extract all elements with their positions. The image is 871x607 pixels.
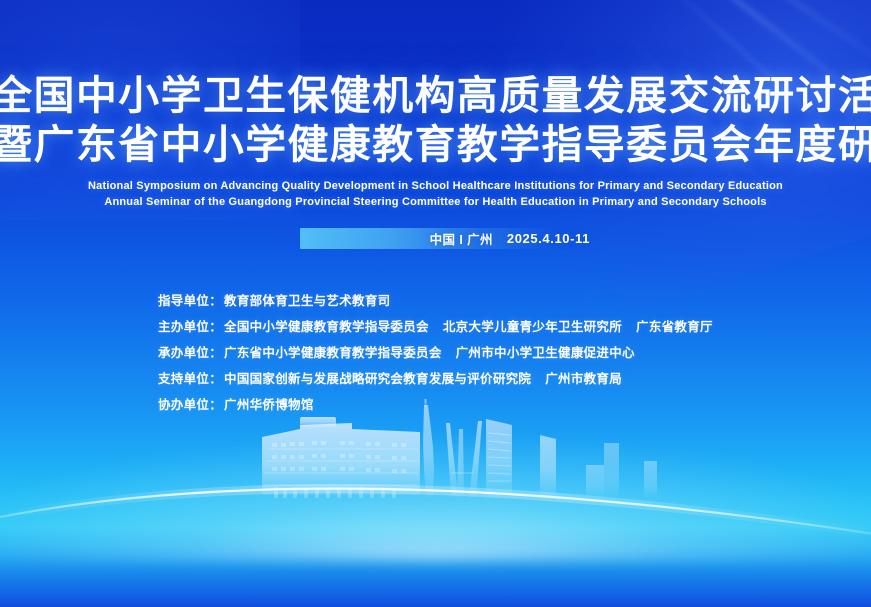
organization-label: 指导单位： xyxy=(158,294,222,308)
organization-row: 支持单位：中国国家创新与发展战略研究会教育发展与评价研究院广州市教育局 xyxy=(158,366,713,392)
organization-item: 中国国家创新与发展战略研究会教育发展与评价研究院 xyxy=(224,372,531,386)
organization-item: 广州华侨博物馆 xyxy=(224,398,314,412)
organization-item: 广州市教育局 xyxy=(545,372,622,386)
subtitle-line-1: National Symposium on Advancing Quality … xyxy=(0,178,871,194)
organization-item: 北京大学儿童青少年卫生研究所 xyxy=(443,320,622,334)
banner-location: 中国 I 广州 xyxy=(430,229,493,248)
organization-label: 协办单位： xyxy=(158,398,222,412)
organization-items: 广州华侨博物馆 xyxy=(224,398,314,412)
organization-label: 支持单位： xyxy=(158,372,222,386)
organization-row: 协办单位：广州华侨博物馆 xyxy=(158,392,713,418)
organization-row: 承办单位：广东省中小学健康教育教学指导委员会广州市中小学卫生健康促进中心 xyxy=(158,340,713,366)
organization-label: 承办单位： xyxy=(158,346,222,360)
title-line-2: 暨广东省中小学健康教育教学指导委员会年度研讨活动 xyxy=(0,121,871,170)
organization-items: 教育部体育卫生与艺术教育司 xyxy=(224,294,390,308)
organization-label: 主办单位： xyxy=(158,320,222,334)
organization-items: 中国国家创新与发展战略研究会教育发展与评价研究院广州市教育局 xyxy=(224,372,622,386)
organization-items: 全国中小学健康教育教学指导委员会北京大学儿童青少年卫生研究所广东省教育厅 xyxy=(224,320,713,334)
conference-poster: 全国中小学卫生保健机构高质量发展交流研讨活动 暨广东省中小学健康教育教学指导委员… xyxy=(0,0,871,607)
poster-title: 全国中小学卫生保健机构高质量发展交流研讨活动 暨广东省中小学健康教育教学指导委员… xyxy=(0,72,871,170)
poster-subtitle: National Symposium on Advancing Quality … xyxy=(0,178,871,210)
organizations-list: 指导单位：教育部体育卫生与艺术教育司主办单位：全国中小学健康教育教学指导委员会北… xyxy=(158,288,713,418)
banner-date: 2025.4.10-11 xyxy=(507,231,590,246)
organization-item: 广东省教育厅 xyxy=(636,320,713,334)
subtitle-line-2: Annual Seminar of the Guangdong Provinci… xyxy=(0,194,871,210)
location-date-banner: 中国 I 广州 2025.4.10-11 xyxy=(300,228,590,249)
organization-item: 全国中小学健康教育教学指导委员会 xyxy=(224,320,429,334)
organization-row: 指导单位：教育部体育卫生与艺术教育司 xyxy=(158,288,713,314)
title-line-1: 全国中小学卫生保健机构高质量发展交流研讨活动 xyxy=(0,72,871,121)
organization-row: 主办单位：全国中小学健康教育教学指导委员会北京大学儿童青少年卫生研究所广东省教育… xyxy=(158,314,713,340)
organization-items: 广东省中小学健康教育教学指导委员会广州市中小学卫生健康促进中心 xyxy=(224,346,635,360)
organization-item: 广州市中小学卫生健康促进中心 xyxy=(456,346,635,360)
organization-item: 教育部体育卫生与艺术教育司 xyxy=(224,294,390,308)
organization-item: 广东省中小学健康教育教学指导委员会 xyxy=(224,346,442,360)
sweeping-arc xyxy=(0,407,871,607)
